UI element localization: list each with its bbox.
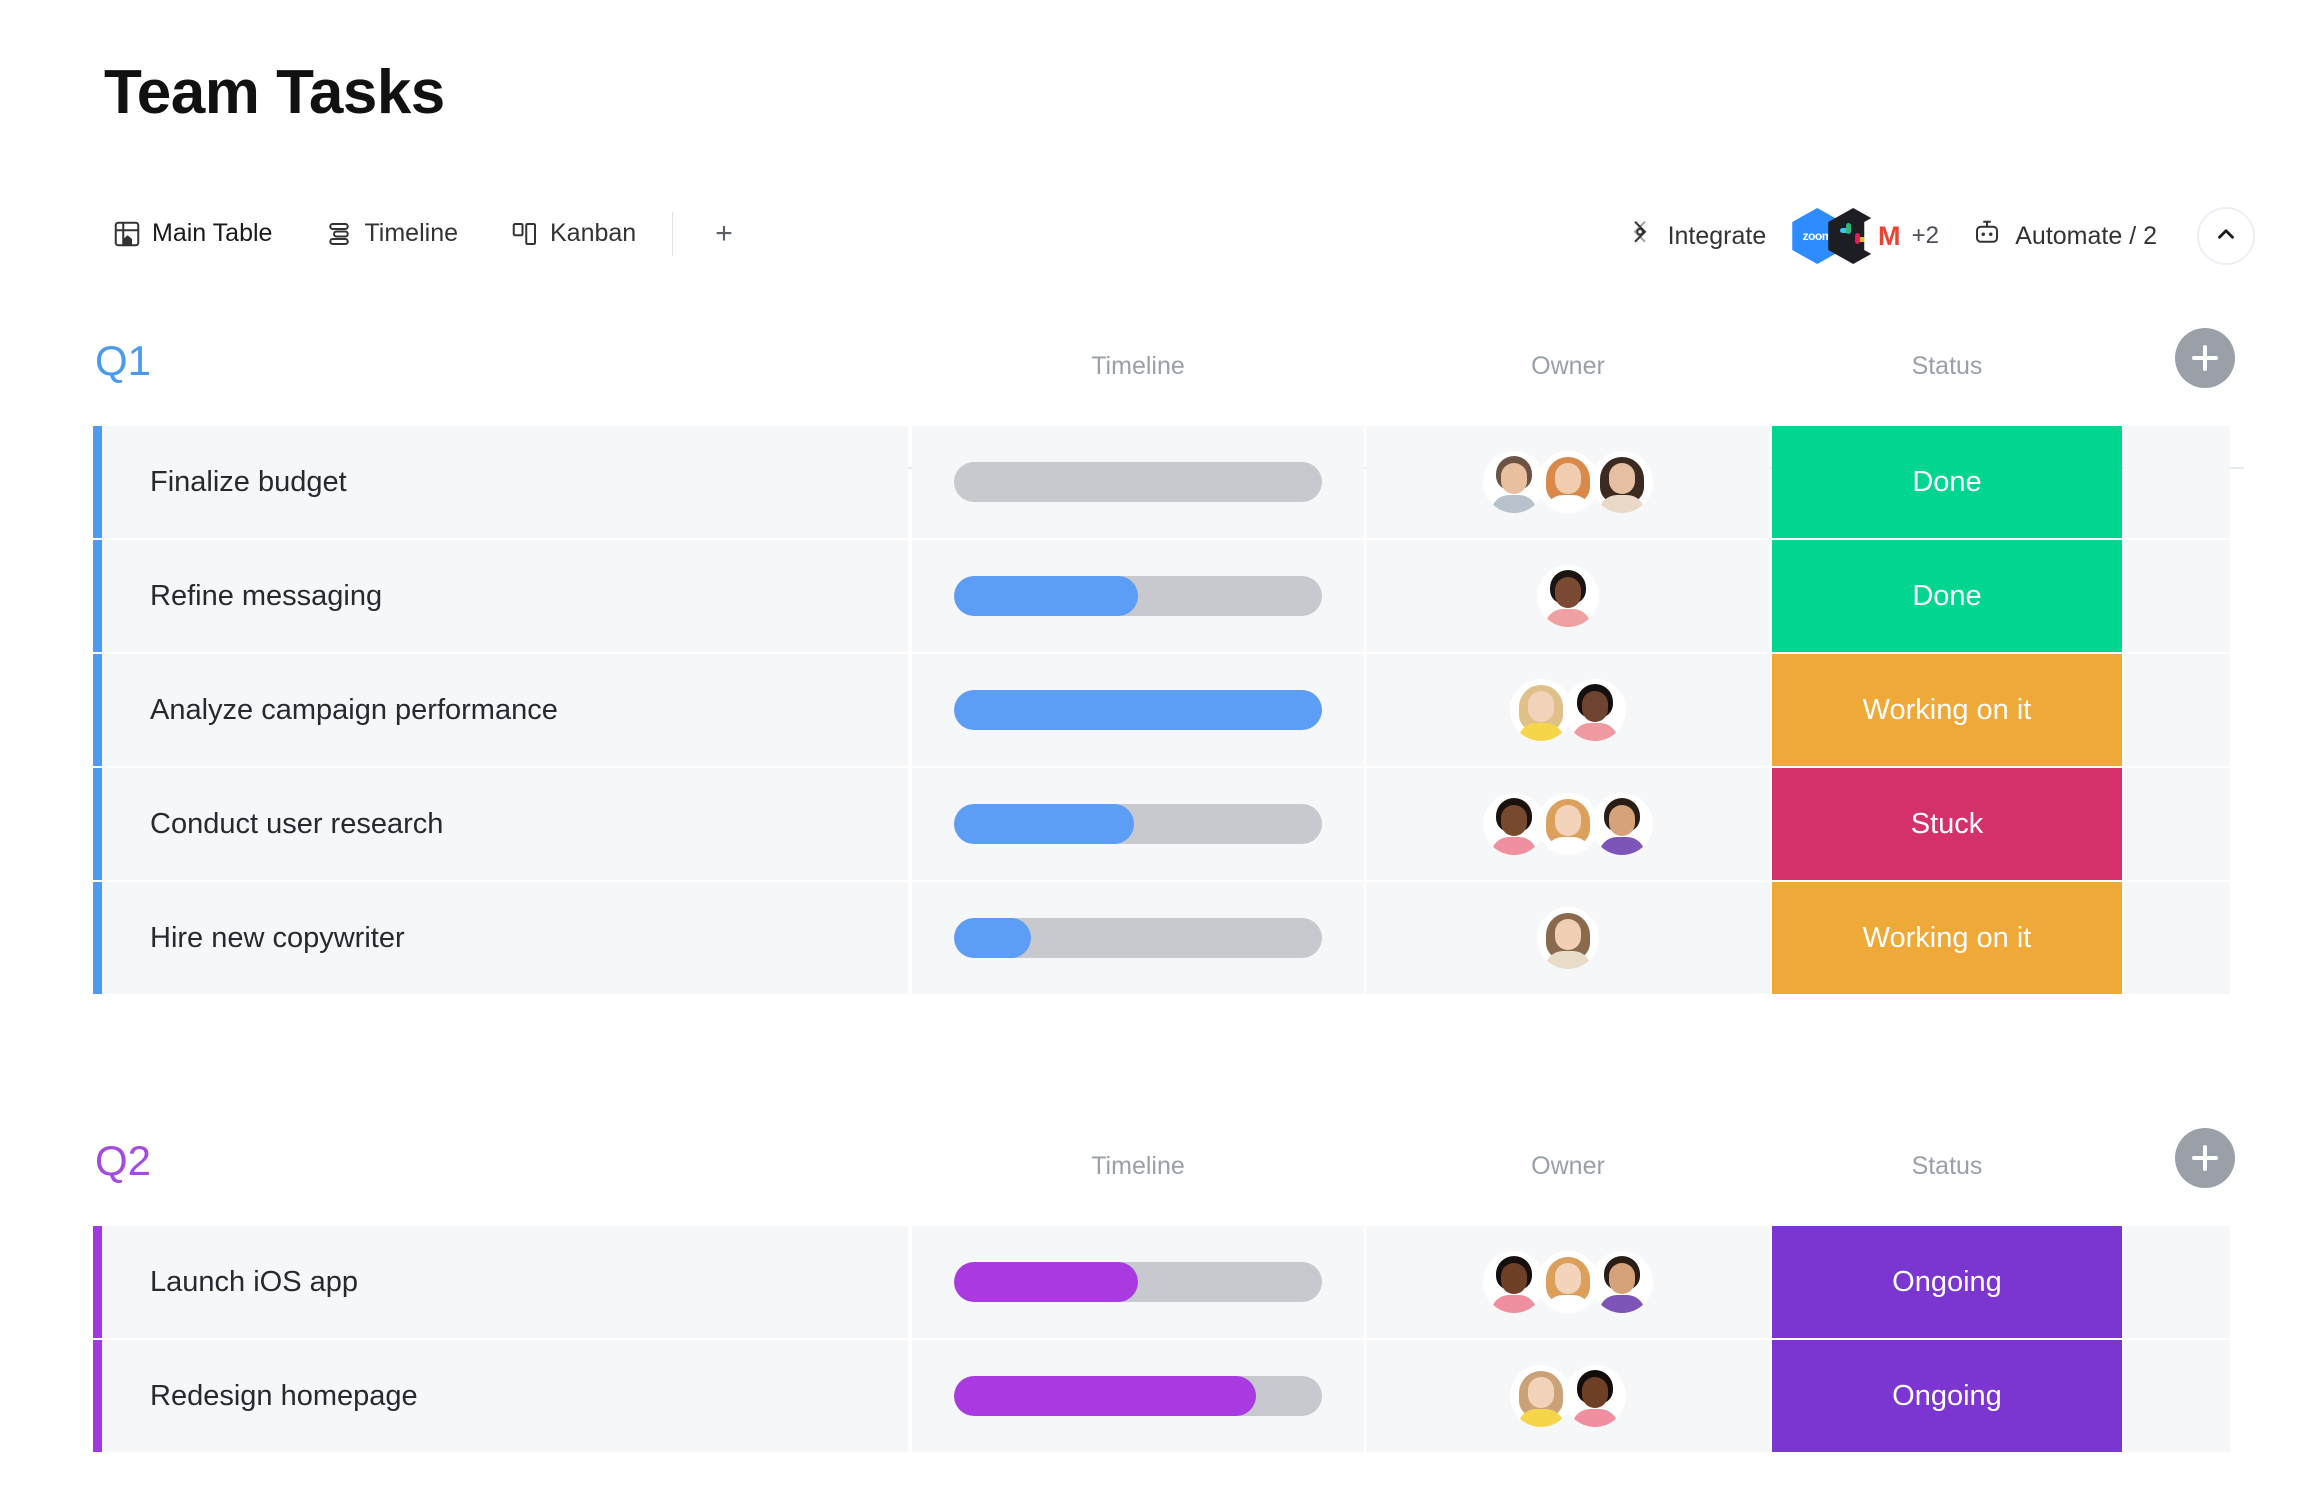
status-badge[interactable]: Done (1772, 426, 2122, 538)
avatar-group (1483, 1251, 1653, 1313)
avatar[interactable] (1510, 679, 1572, 741)
progress-bar[interactable] (954, 804, 1322, 844)
add-column-button[interactable] (2175, 1128, 2235, 1188)
more-apps-icon[interactable]: +2 (1900, 208, 1950, 264)
progress-bar-fill (954, 1262, 1138, 1302)
avatar[interactable] (1483, 451, 1545, 513)
row-accent-bar (93, 882, 102, 994)
integration-app-icons[interactable]: zoom M +2 (1792, 208, 1950, 264)
timeline-cell[interactable] (912, 882, 1364, 994)
timeline-cell[interactable] (912, 540, 1364, 652)
owner-cell[interactable] (1366, 654, 1770, 766)
timeline-cell[interactable] (912, 1226, 1364, 1338)
owner-cell[interactable] (1366, 768, 1770, 880)
tab-main-table[interactable]: Main Table (106, 195, 298, 272)
empty-cell (2124, 540, 2230, 652)
tab-timeline-label: Timeline (364, 219, 458, 248)
status-badge[interactable]: Ongoing (1772, 1340, 2122, 1452)
status-badge[interactable]: Ongoing (1772, 1226, 2122, 1338)
timeline-icon (324, 219, 354, 249)
column-header-status[interactable]: Status (1772, 352, 2122, 381)
tab-separator (672, 212, 673, 256)
collapse-header-button[interactable] (2197, 207, 2255, 265)
avatar-group (1537, 565, 1599, 627)
slack-glyph (1840, 223, 1866, 249)
avatar[interactable] (1537, 793, 1599, 855)
task-name-cell[interactable]: Hire new copywriter (102, 882, 908, 994)
table-row[interactable]: Refine messagingDone (0, 540, 2313, 652)
row-accent-bar (93, 654, 102, 766)
group-title[interactable]: Q2 (95, 1140, 151, 1182)
kanban-icon (510, 219, 540, 249)
task-name-cell[interactable]: Conduct user research (102, 768, 908, 880)
avatar-group (1483, 793, 1653, 855)
integrate-label: Integrate (1668, 222, 1767, 251)
timeline-cell[interactable] (912, 1340, 1364, 1452)
table-row[interactable]: Redesign homepageOngoing (0, 1340, 2313, 1452)
status-badge[interactable]: Working on it (1772, 654, 2122, 766)
avatar-group (1510, 1365, 1626, 1427)
column-header-timeline[interactable]: Timeline (912, 352, 1364, 381)
table-row[interactable]: Analyze campaign performanceWorking on i… (0, 654, 2313, 766)
avatar[interactable] (1537, 907, 1599, 969)
owner-cell[interactable] (1366, 426, 1770, 538)
column-header-owner[interactable]: Owner (1366, 352, 1770, 381)
row-accent-bar (93, 540, 102, 652)
table-row[interactable]: Finalize budgetDone (0, 426, 2313, 538)
task-name-cell[interactable]: Finalize budget (102, 426, 908, 538)
add-column-button[interactable] (2175, 328, 2235, 388)
owner-cell[interactable] (1366, 1340, 1770, 1452)
automate-label: Automate / 2 (2015, 222, 2157, 251)
tab-timeline[interactable]: Timeline (298, 195, 484, 272)
progress-bar-fill (954, 1376, 1256, 1416)
timeline-cell[interactable] (912, 654, 1364, 766)
row-accent-bar (93, 1226, 102, 1338)
group-q1: Q1TimelineOwnerStatusFinalize budgetDone… (0, 340, 2313, 996)
progress-bar[interactable] (954, 690, 1322, 730)
task-name-cell[interactable]: Refine messaging (102, 540, 908, 652)
chevron-up-icon (2213, 221, 2239, 252)
avatar[interactable] (1510, 1365, 1572, 1427)
empty-cell (2124, 654, 2230, 766)
add-view-button[interactable]: + (683, 195, 765, 272)
status-badge[interactable]: Stuck (1772, 768, 2122, 880)
robot-icon (1972, 218, 2002, 255)
task-name-cell[interactable]: Redesign homepage (102, 1340, 908, 1452)
integrate-button[interactable]: Integrate (1607, 218, 1785, 255)
avatar-group (1483, 451, 1653, 513)
task-name-cell[interactable]: Launch iOS app (102, 1226, 908, 1338)
table-row[interactable]: Hire new copywriterWorking on it (0, 882, 2313, 994)
board-toolbar: Integrate zoom M +2 (1607, 195, 2255, 277)
avatar[interactable] (1591, 1251, 1653, 1313)
tab-main-table-label: Main Table (152, 219, 272, 248)
avatar[interactable] (1564, 1365, 1626, 1427)
empty-cell (2124, 1340, 2230, 1452)
avatar[interactable] (1591, 451, 1653, 513)
progress-bar[interactable] (954, 576, 1322, 616)
avatar[interactable] (1537, 1251, 1599, 1313)
progress-bar[interactable] (954, 918, 1322, 958)
avatar[interactable] (1564, 679, 1626, 741)
status-badge[interactable]: Working on it (1772, 882, 2122, 994)
group-title[interactable]: Q1 (95, 340, 151, 382)
empty-cell (2124, 1226, 2230, 1338)
column-header-owner[interactable]: Owner (1366, 1152, 1770, 1181)
empty-cell (2124, 768, 2230, 880)
timeline-cell[interactable] (912, 768, 1364, 880)
avatar[interactable] (1483, 1251, 1545, 1313)
view-tabs: Main Table Timeline (106, 195, 765, 272)
automate-button[interactable]: Automate / 2 (1954, 218, 2175, 255)
avatar[interactable] (1591, 793, 1653, 855)
tab-kanban-label: Kanban (550, 219, 636, 248)
progress-bar-fill (954, 804, 1134, 844)
empty-cell (2124, 426, 2230, 538)
progress-bar-fill (954, 576, 1138, 616)
progress-bar-fill (954, 690, 1322, 730)
owner-cell[interactable] (1366, 540, 1770, 652)
group-header: Q1TimelineOwnerStatus (0, 340, 2313, 426)
table-row[interactable]: Conduct user researchStuck (0, 768, 2313, 880)
avatar[interactable] (1537, 451, 1599, 513)
group-q2: Q2TimelineOwnerStatusLaunch iOS appOngoi… (0, 1140, 2313, 1454)
progress-bar[interactable] (954, 1262, 1322, 1302)
column-header-status[interactable]: Status (1772, 1152, 2122, 1181)
group-header: Q2TimelineOwnerStatus (0, 1140, 2313, 1226)
board-page: Team Tasks Main Table (0, 0, 2313, 1490)
progress-bar[interactable] (954, 1376, 1322, 1416)
tab-kanban[interactable]: Kanban (484, 195, 662, 272)
page-title: Team Tasks (104, 62, 445, 124)
row-accent-bar (93, 426, 102, 538)
task-name-cell[interactable]: Analyze campaign performance (102, 654, 908, 766)
timeline-cell[interactable] (912, 426, 1364, 538)
integrate-icon (1625, 218, 1655, 255)
status-badge[interactable]: Done (1772, 540, 2122, 652)
owner-cell[interactable] (1366, 882, 1770, 994)
table-home-icon (112, 219, 142, 249)
avatar[interactable] (1537, 565, 1599, 627)
owner-cell[interactable] (1366, 1226, 1770, 1338)
column-header-timeline[interactable]: Timeline (912, 1152, 1364, 1181)
progress-bar[interactable] (954, 462, 1322, 502)
row-accent-bar (93, 768, 102, 880)
avatar-group (1537, 907, 1599, 969)
row-accent-bar (93, 1340, 102, 1452)
progress-bar-fill (954, 918, 1031, 958)
avatar[interactable] (1483, 793, 1545, 855)
avatar-group (1510, 679, 1626, 741)
empty-cell (2124, 882, 2230, 994)
table-row[interactable]: Launch iOS appOngoing (0, 1226, 2313, 1338)
